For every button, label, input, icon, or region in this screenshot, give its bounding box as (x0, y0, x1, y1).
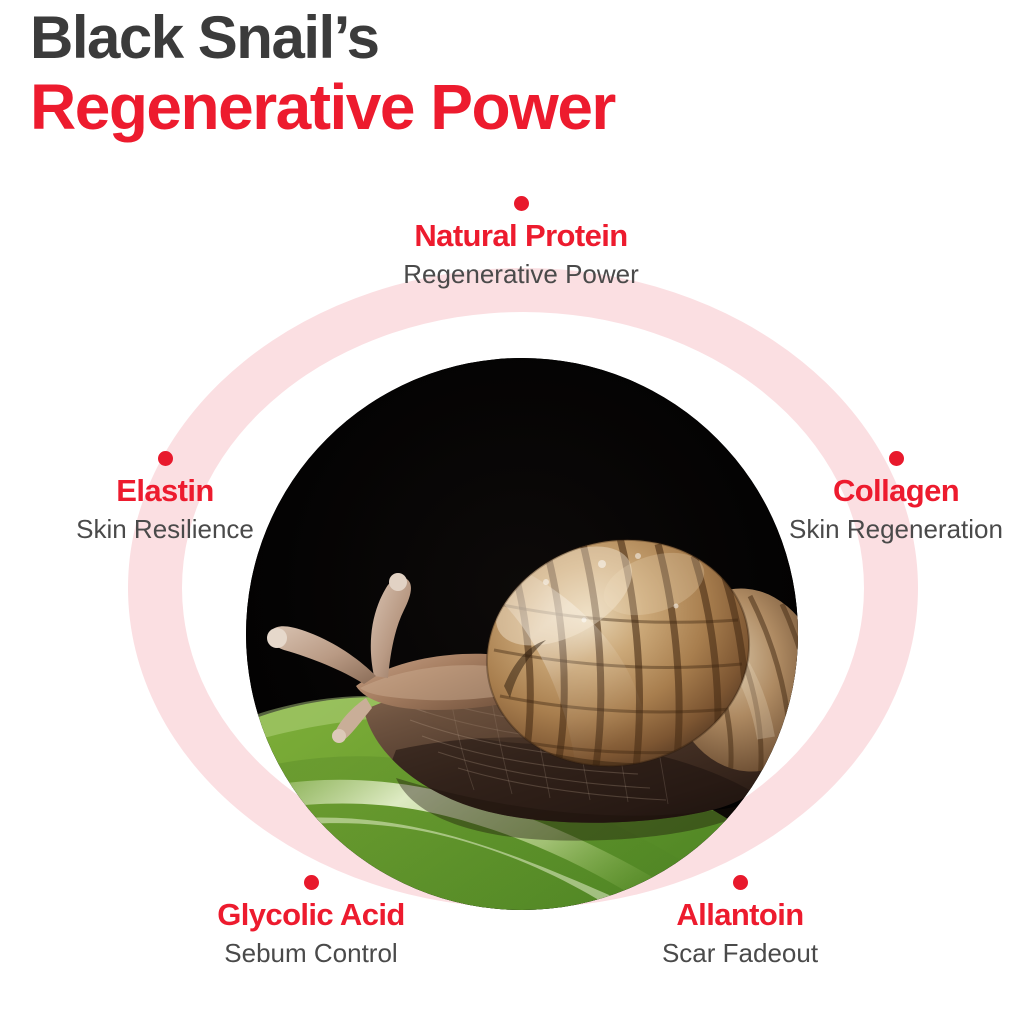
red-dot-icon (889, 451, 904, 466)
node-collagen: Collagen Skin Regeneration (776, 451, 1016, 544)
node-elastin: Elastin Skin Resilience (45, 451, 285, 544)
node-subtitle: Skin Resilience (45, 514, 285, 545)
page-title: Black Snail’s Regenerative Power (30, 6, 990, 142)
red-dot-icon (158, 451, 173, 466)
node-glycolic-acid: Glycolic Acid Sebum Control (141, 875, 481, 968)
node-allantoin: Allantoin Scar Fadeout (600, 875, 880, 968)
node-title: Collagen (776, 474, 1016, 509)
snail-ingredients-infographic: Black Snail’s Regenerative Power (0, 0, 1024, 1024)
headline-line-2: Regenerative Power (30, 73, 990, 142)
headline-line-1: Black Snail’s (30, 6, 990, 71)
node-subtitle: Sebum Control (141, 938, 481, 969)
node-natural-protein: Natural Protein Regenerative Power (311, 196, 731, 289)
snail-photo (246, 358, 798, 910)
node-title: Allantoin (600, 898, 880, 933)
node-subtitle: Skin Regeneration (776, 514, 1016, 545)
node-title: Elastin (45, 474, 285, 509)
node-title: Natural Protein (311, 219, 731, 254)
node-subtitle: Scar Fadeout (600, 938, 880, 969)
node-subtitle: Regenerative Power (311, 259, 731, 290)
red-dot-icon (514, 196, 529, 211)
red-dot-icon (304, 875, 319, 890)
node-title: Glycolic Acid (141, 898, 481, 933)
red-dot-icon (733, 875, 748, 890)
